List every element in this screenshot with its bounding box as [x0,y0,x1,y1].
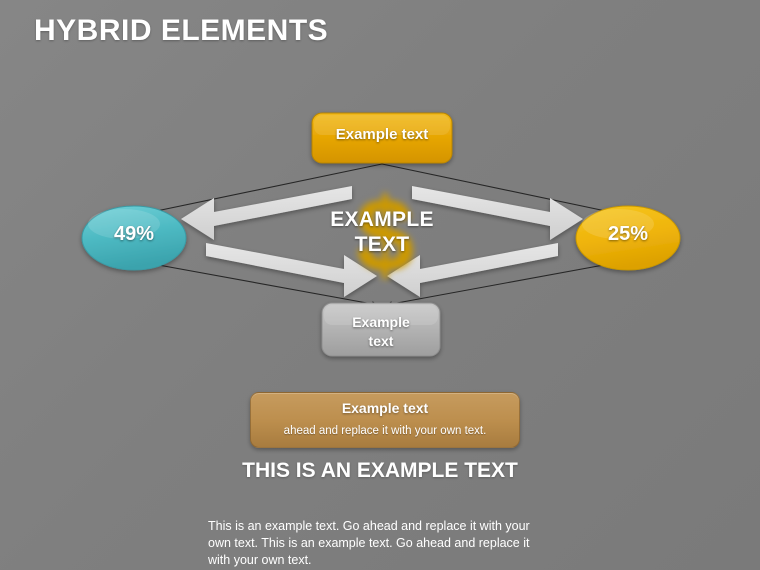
node-left[interactable] [82,206,186,270]
connector-right-to-bottom [386,262,620,305]
node-right[interactable] [576,206,680,270]
node-top[interactable] [312,113,452,163]
svg-text:$: $ [356,177,414,294]
arrow-upper-right [412,186,583,240]
slide-canvas: HYBRID ELEMENTS [0,0,760,570]
callout-box[interactable]: Example text ahead and replace it with y… [250,392,520,448]
footer-heading: THIS IS AN EXAMPLE TEXT [0,459,760,483]
callout-title: Example text [251,400,519,416]
node-bottom[interactable] [322,303,440,356]
footer-paragraph: This is an example text. Go ahead and re… [208,518,554,569]
callout-body: ahead and replace it with your own text. [251,425,519,437]
dollar-sign-icon: $ [356,177,414,294]
arrow-upper-left [181,186,352,240]
connector-left-to-bottom [142,262,378,305]
hybrid-elements-diagram: $ [0,0,760,570]
